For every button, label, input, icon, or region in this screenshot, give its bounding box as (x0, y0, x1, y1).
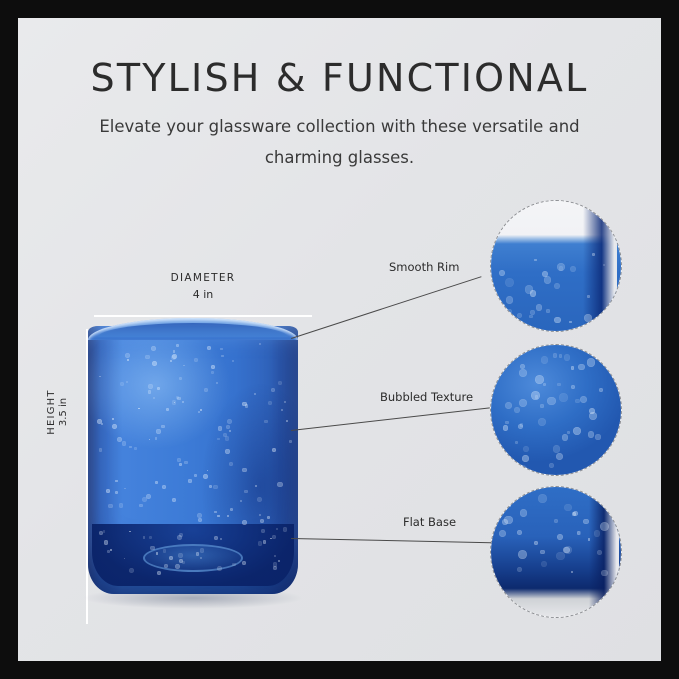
bubble (263, 540, 266, 543)
bubble (242, 561, 246, 565)
bubble (588, 538, 590, 540)
bubble (544, 276, 551, 283)
diameter-label: DIAMETER (94, 272, 312, 284)
bubble (156, 429, 161, 434)
bubble (194, 358, 198, 362)
bubble (503, 425, 508, 430)
bubble (122, 441, 127, 446)
page-subtitle: Elevate your glassware collection with t… (68, 111, 611, 173)
bubble (518, 550, 527, 559)
bubble (536, 304, 542, 310)
bubble (519, 369, 526, 376)
bubble (242, 468, 247, 473)
callout-label-smooth-rim: Smooth Rim (389, 260, 459, 274)
bubble (592, 253, 595, 256)
base-detail-zoom (490, 486, 622, 618)
bubble (562, 434, 569, 441)
bubble (148, 390, 151, 393)
bubble (225, 436, 230, 441)
bubble (520, 423, 523, 426)
bubble (595, 434, 601, 440)
diameter-value: 4 in (94, 288, 312, 301)
bubble (217, 515, 220, 518)
subtitle-line-1: Elevate your glassware collection with t… (99, 117, 579, 136)
bubble (588, 431, 595, 438)
bubble (232, 563, 236, 567)
bubble (519, 465, 527, 473)
bubble (213, 485, 218, 490)
page-title: STYLISH & FUNCTIONAL (18, 56, 661, 100)
product-image-glass (88, 318, 298, 603)
leader-line-flat-base (291, 538, 491, 543)
bubble (198, 518, 202, 522)
bubble (179, 559, 183, 563)
bubble (203, 474, 208, 479)
bubble (571, 385, 575, 389)
bubble (556, 552, 565, 561)
bubble (520, 509, 528, 517)
bubble (198, 411, 200, 413)
bubble (541, 356, 548, 363)
bubble (134, 447, 137, 450)
bubble (172, 354, 177, 359)
bubble (283, 527, 287, 531)
leader-line-smooth-rim (291, 276, 482, 339)
bubble (571, 366, 575, 370)
bubble (559, 393, 568, 402)
bubble (225, 449, 230, 454)
bubble (227, 515, 229, 517)
bubble (534, 259, 536, 261)
bubble (99, 448, 103, 452)
bubble (197, 513, 202, 518)
height-value: 3.5 in (58, 352, 69, 472)
bubble (557, 534, 563, 540)
bubble (244, 490, 248, 494)
bubble (177, 458, 181, 462)
bubble (120, 382, 124, 386)
bubble (164, 564, 168, 568)
bubble (129, 446, 131, 448)
callout-label-flat-base: Flat Base (403, 515, 456, 529)
bubble (508, 504, 511, 507)
bubble (178, 553, 183, 558)
bubble (175, 564, 180, 569)
bubble (99, 531, 103, 535)
bubble (127, 359, 128, 360)
bubble (161, 425, 165, 429)
bubble (543, 383, 546, 386)
bubble (504, 516, 513, 525)
bubble (522, 455, 529, 462)
bubble (230, 508, 233, 511)
bubble (286, 420, 288, 422)
bubble (284, 401, 286, 403)
glass-rim-inner (98, 323, 288, 337)
bubble (514, 407, 520, 413)
rim-detail-edge (583, 201, 617, 331)
bubble (151, 346, 156, 351)
bubble (182, 401, 184, 403)
bubble (124, 488, 125, 489)
bubble (150, 546, 155, 551)
bubble (218, 426, 223, 431)
bubble (254, 393, 256, 395)
base-detail-edge (589, 487, 619, 617)
bubble (184, 461, 187, 464)
bubble (601, 570, 608, 577)
bubble (242, 402, 246, 406)
callout-label-bubbled-texture: Bubbled Texture (380, 390, 473, 404)
bubble (148, 384, 153, 389)
bubble (179, 377, 182, 380)
height-label: HEIGHT (46, 352, 57, 472)
bubble (575, 399, 580, 404)
bubble (546, 309, 550, 313)
bubble (535, 395, 538, 398)
glass-body (88, 326, 298, 594)
bubble (217, 566, 222, 571)
texture-detail-zoom (490, 344, 622, 476)
bubble (505, 278, 514, 287)
bubble (101, 423, 102, 424)
bubble (584, 314, 592, 322)
bubble (264, 420, 268, 424)
product-infographic: STYLISH & FUNCTIONAL Elevate your glassw… (0, 0, 679, 679)
bubble (517, 530, 522, 535)
rim-detail-zoom (490, 200, 622, 332)
bubble (163, 549, 167, 553)
bubble (259, 514, 261, 516)
glass-base-ring (143, 544, 243, 572)
bubble (119, 503, 124, 508)
bubble (523, 446, 529, 452)
glass-rim (88, 318, 298, 340)
bubble (97, 419, 102, 424)
bubble (549, 463, 554, 468)
bubble (177, 535, 182, 540)
bubble (188, 479, 191, 482)
bubble (106, 489, 110, 493)
bubble (149, 536, 152, 539)
bubble (538, 494, 547, 503)
bubble (506, 296, 513, 303)
bubble (277, 482, 282, 487)
bubble (242, 520, 247, 525)
bubble (276, 528, 278, 530)
leader-line-bubbled-texture (291, 407, 490, 431)
bubble (220, 538, 222, 540)
bubble (142, 497, 147, 502)
bubble (260, 519, 264, 523)
bubble (115, 491, 118, 494)
bubble (554, 317, 561, 324)
bubble (505, 421, 509, 425)
bubble (547, 397, 556, 406)
bubble (557, 383, 560, 386)
bubble (143, 536, 145, 538)
bubble (594, 530, 601, 537)
bubble (214, 511, 217, 514)
subtitle-line-2: charming glasses. (265, 148, 414, 167)
bubble (553, 445, 561, 453)
bubble (145, 355, 149, 359)
diameter-guide-line (94, 315, 312, 317)
bubble (540, 404, 544, 408)
bubble (570, 266, 576, 272)
bubble (166, 408, 169, 411)
infographic-panel: STYLISH & FUNCTIONAL Elevate your glassw… (18, 18, 661, 661)
bubble (559, 354, 562, 357)
